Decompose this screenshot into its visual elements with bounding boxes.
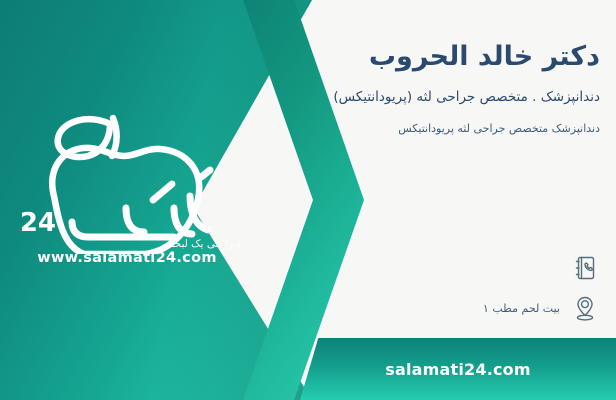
logo-number-text: 24 bbox=[20, 208, 56, 238]
contact-list: بیت لحم مطب ۱ bbox=[180, 248, 600, 328]
phone-book-icon bbox=[570, 251, 600, 285]
doctor-specialty-secondary: دندانپزشک متخصص جراحی لثه پریودانتیکس bbox=[180, 121, 600, 138]
doctor-info-block: دکتر خالد الحروب دندانپزشک . متخصص جراحی… bbox=[180, 40, 600, 138]
location-pin-icon bbox=[570, 291, 600, 325]
footer-bar: salamati24.com bbox=[300, 338, 616, 400]
business-card: 24 به راحتی یک لبخند www.salamati24.com … bbox=[0, 0, 616, 400]
contact-row-address[interactable]: بیت لحم مطب ۱ bbox=[180, 288, 600, 328]
doctor-specialty-primary: دندانپزشک . متخصص جراحی لثه (پریودانتیکس… bbox=[180, 87, 600, 107]
footer-website[interactable]: salamati24.com bbox=[385, 360, 531, 379]
contact-row-phone[interactable] bbox=[180, 248, 600, 288]
contact-address-text: بیت لحم مطب ۱ bbox=[483, 302, 560, 315]
doctor-name: دکتر خالد الحروب bbox=[180, 40, 600, 74]
logo-number-24: 24 bbox=[20, 208, 56, 238]
